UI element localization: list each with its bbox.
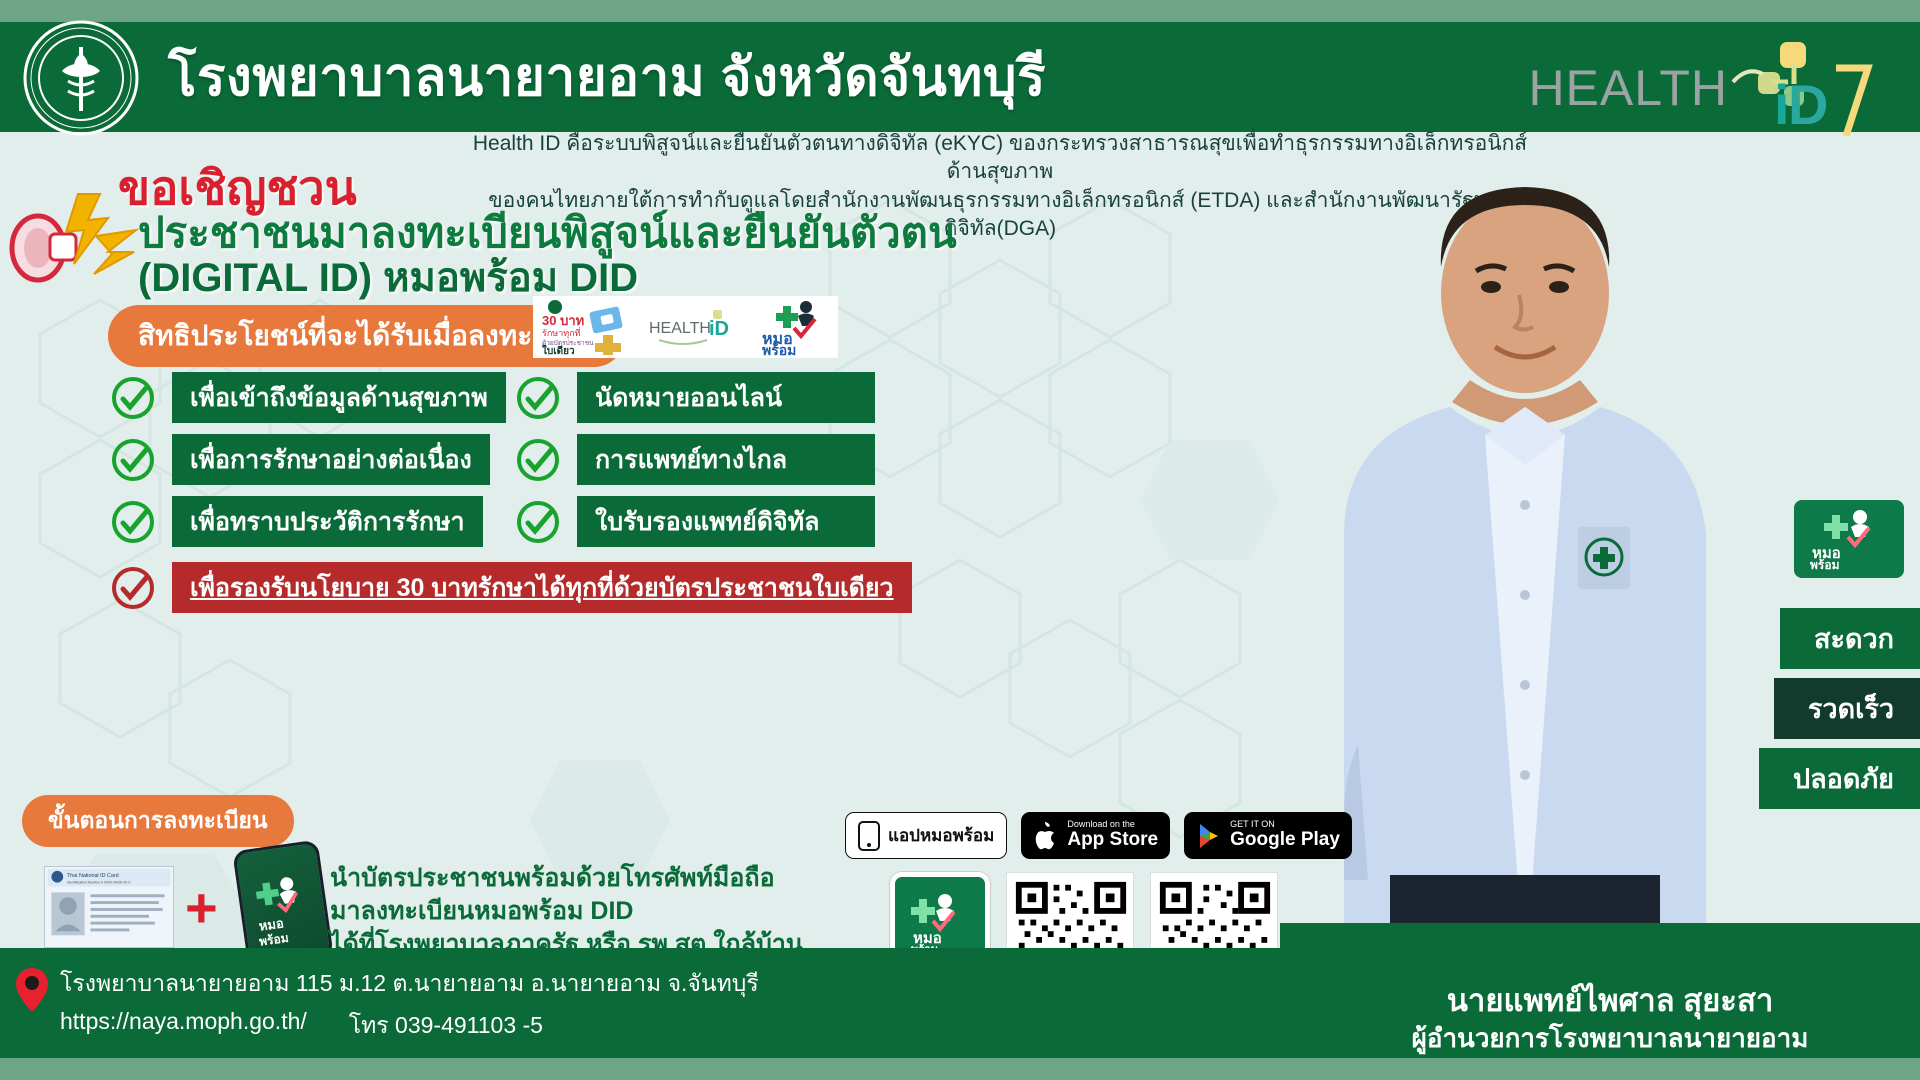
header-top-strip bbox=[0, 0, 1920, 22]
benefit-item: ใบรับรองแพทย์ดิจิทัล bbox=[515, 496, 875, 547]
health-id-wordmark: HEALTH bbox=[1528, 59, 1728, 117]
logo-30-baht-line2: รักษาทุกที่ bbox=[542, 326, 581, 339]
page-header: โรงพยาบาลนายายอาม จังหวัดจันทบุรี HEALTH… bbox=[0, 22, 1920, 132]
benefits-list-left: เพื่อเข้าถึงข้อมูลด้านสุขภาพ เพื่อการรัก… bbox=[110, 372, 506, 558]
google-badge-big-label: Google Play bbox=[1230, 830, 1340, 851]
step-text-line-2: มาลงทะเบียนหมอพร้อม DID bbox=[330, 895, 803, 928]
check-circle-icon bbox=[110, 375, 156, 421]
apple-app-store-badge[interactable]: Download on the App Store bbox=[1021, 812, 1170, 859]
morprom-side-badge: หมอ พร้อม bbox=[1794, 500, 1904, 578]
id-card-subtitle: Identification Number 0 0000 00000 00 0 bbox=[67, 881, 130, 885]
ministry-of-public-health-logo-icon bbox=[22, 19, 140, 137]
morprom-app-badge-label: แอปหมอพร้อม bbox=[888, 822, 994, 849]
plus-separator-icon: + bbox=[185, 880, 218, 936]
benefit-label: เพื่อการรักษาอย่างต่อเนื่อง bbox=[172, 434, 490, 485]
morprom-side-label-2: พร้อม bbox=[1810, 558, 1839, 570]
health-id-logo: HEALTH i D bbox=[1528, 40, 1878, 136]
location-pin-icon bbox=[14, 966, 50, 1014]
feature-tag-convenient: สะดวก bbox=[1780, 608, 1920, 669]
partner-logos-strip: 30 บาท รักษาทุกที่ ด้วยบัตรประชาชน ใบเดี… bbox=[533, 296, 838, 358]
footer-website-link[interactable]: https://naya.moph.go.th/ bbox=[60, 1008, 307, 1044]
benefit-item: เพื่อทราบประวัติการรักษา bbox=[110, 496, 506, 547]
health-id-mark-icon: i D bbox=[1728, 40, 1878, 136]
logo-30-baht-scheme: 30 บาท รักษาทุกที่ ด้วยบัตรประชาชน ใบเดี… bbox=[539, 299, 635, 355]
svg-text:D: D bbox=[1788, 73, 1828, 136]
check-circle-icon bbox=[515, 375, 561, 421]
apple-logo-icon bbox=[1033, 821, 1059, 851]
megaphone-icon bbox=[8, 190, 143, 300]
check-circle-icon bbox=[110, 499, 156, 545]
benefit-label: เพื่อเข้าถึงข้อมูลด้านสุขภาพ bbox=[172, 372, 506, 423]
footer-contact-row: https://naya.moph.go.th/ โทร 039-491103 … bbox=[60, 1008, 543, 1044]
benefit-highlight-label: เพื่อรองรับนโยบาย 30 บาทรักษาได้ทุกที่ด้… bbox=[190, 568, 894, 608]
mobile-phone-icon bbox=[858, 821, 880, 851]
svg-text:HEALTH: HEALTH bbox=[649, 320, 711, 337]
apple-badge-big-label: App Store bbox=[1067, 830, 1158, 851]
svg-text:iD: iD bbox=[709, 318, 729, 340]
benefit-highlight-row: เพื่อรองรับนโยบาย 30 บาทรักษาได้ทุกที่ด้… bbox=[110, 562, 912, 613]
registration-steps-text: นำบัตรประชาชนพร้อมด้วยโทรศัพท์มือถือ มาล… bbox=[330, 862, 803, 961]
benefit-label: การแพทย์ทางไกล bbox=[577, 434, 875, 485]
id-card-title: Thai National ID Card bbox=[67, 873, 119, 879]
benefits-list-right: นัดหมายออนไลน์ การแพทย์ทางไกล ใบรับรองแพ… bbox=[515, 372, 875, 558]
morprom-tile-icon: หมอ พร้อม bbox=[909, 891, 971, 953]
phone-app-label-2: พร้อม bbox=[258, 931, 289, 949]
google-play-badge[interactable]: GET IT ON Google Play bbox=[1184, 812, 1352, 859]
logo-30-baht-line1: 30 บาท bbox=[542, 313, 584, 328]
poster-root: โรงพยาบาลนายายอาม จังหวัดจันทบุรี HEALTH… bbox=[0, 0, 1920, 1080]
thai-national-id-card-image: Thai National ID Card Identification Num… bbox=[44, 866, 174, 948]
page-title: โรงพยาบาลนายายอาม จังหวัดจันทบุรี bbox=[168, 35, 1046, 119]
google-play-logo-icon bbox=[1196, 821, 1222, 851]
logo-mor-prom: หมอ พร้อม bbox=[758, 298, 832, 356]
benefit-label: ใบรับรองแพทย์ดิจิทัล bbox=[577, 496, 875, 547]
check-circle-icon bbox=[110, 437, 156, 483]
benefit-item: เพื่อการรักษาอย่างต่อเนื่อง bbox=[110, 434, 506, 485]
check-circle-icon bbox=[515, 437, 561, 483]
step-text-line-1: นำบัตรประชาชนพร้อมด้วยโทรศัพท์มือถือ bbox=[330, 862, 803, 895]
benefit-label: เพื่อทราบประวัติการรักษา bbox=[172, 496, 483, 547]
benefit-item: การแพทย์ทางไกล bbox=[515, 434, 875, 485]
feature-tag-safe: ปลอดภัย bbox=[1759, 748, 1920, 809]
morprom-app-badge[interactable]: แอปหมอพร้อม bbox=[845, 812, 1007, 859]
logo-health-id: HEALTH iD bbox=[649, 307, 744, 347]
logo-mor-prom-line2: พร้อม bbox=[762, 342, 796, 356]
footer-address: โรงพยาบาลนายายอาม 115 ม.12 ต.นายายอาม อ.… bbox=[60, 966, 759, 1002]
logo-30-baht-line4: ใบเดียว bbox=[542, 344, 575, 355]
director-role: ผู้อำนวยการโรงพยาบาลนายายอาม bbox=[1330, 1018, 1890, 1059]
morprom-side-badge-icon: หมอ พร้อม bbox=[1806, 508, 1892, 570]
footer-bottom-strip bbox=[0, 1058, 1920, 1080]
app-store-badges: แอปหมอพร้อม Download on the App Store GE… bbox=[845, 812, 1352, 859]
check-circle-icon bbox=[515, 499, 561, 545]
benefit-highlight-bar: เพื่อรองรับนโยบาย 30 บาทรักษาได้ทุกที่ด้… bbox=[172, 562, 912, 613]
footer-phone: โทร 039-491103 -5 bbox=[349, 1008, 543, 1044]
doctor-portrait-photo bbox=[1310, 175, 1740, 980]
feature-tag-fast: รวดเร็ว bbox=[1774, 678, 1920, 739]
benefit-item: เพื่อเข้าถึงข้อมูลด้านสุขภาพ bbox=[110, 372, 506, 423]
registration-steps-title: ขั้นตอนการลงทะเบียน bbox=[22, 795, 294, 847]
benefit-item: นัดหมายออนไลน์ bbox=[515, 372, 875, 423]
benefit-label: นัดหมายออนไลน์ bbox=[577, 372, 875, 423]
check-circle-icon-red bbox=[110, 565, 156, 611]
